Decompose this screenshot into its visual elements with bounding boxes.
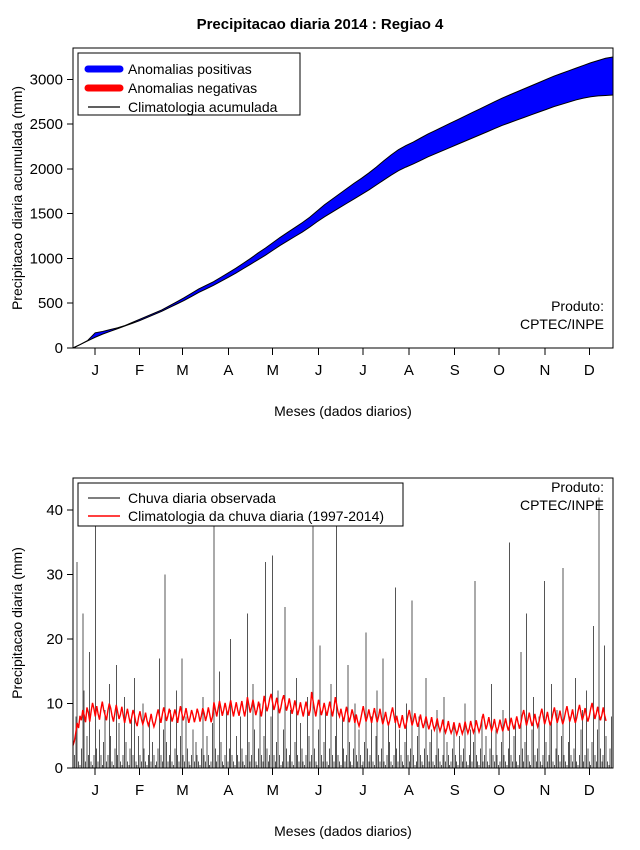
y-tick-label-6: 3000 xyxy=(30,71,63,88)
x-tick-label-9: O xyxy=(493,362,505,379)
precipitation-figure: Precipitacao diaria 2014 : Regiao 4 0500… xyxy=(0,0,640,850)
x-tick-label-6: J xyxy=(359,362,367,379)
x-axis-title: Meses (dados diarios) xyxy=(274,403,412,419)
x-tick-label-11: D xyxy=(584,362,595,379)
x-tick-label-7: A xyxy=(404,362,414,379)
x-tick-label-8: S xyxy=(450,362,460,379)
y-axis-title: Precipitacao diaria (mm) xyxy=(9,547,25,699)
x-tick-label-7: A xyxy=(404,782,414,799)
daily-chart-svg: 010203040JFMAMJJASONDPrecipitacao diaria… xyxy=(0,430,640,850)
y-tick-label-4: 40 xyxy=(46,502,63,519)
y-tick-label-4: 2000 xyxy=(30,161,63,178)
x-tick-label-10: N xyxy=(540,782,551,799)
y-tick-label-2: 1000 xyxy=(30,250,63,267)
accumulated-precipitation-chart: Precipitacao diaria 2014 : Regiao 4 0500… xyxy=(0,0,640,430)
x-tick-label-2: M xyxy=(176,362,189,379)
producer-label-line1: Produto: xyxy=(551,479,604,495)
y-tick-label-5: 2500 xyxy=(30,116,63,133)
legend-label-1: Anomalias negativas xyxy=(128,80,257,96)
y-tick-label-1: 10 xyxy=(46,696,63,713)
x-tick-label-8: S xyxy=(450,782,460,799)
x-tick-label-4: M xyxy=(266,782,279,799)
legend-label-2: Climatologia acumulada xyxy=(128,99,278,115)
x-tick-label-0: J xyxy=(91,782,99,799)
x-tick-label-0: J xyxy=(91,362,99,379)
climatology-accumulated-line xyxy=(73,95,613,348)
x-tick-label-1: F xyxy=(135,782,144,799)
producer-label-line2: CPTEC/INPE xyxy=(520,316,604,332)
legend-label-0: Anomalias positivas xyxy=(128,61,252,77)
y-tick-label-2: 20 xyxy=(46,631,63,648)
x-tick-label-5: J xyxy=(315,362,323,379)
y-tick-label-1: 500 xyxy=(38,295,63,312)
x-tick-label-6: J xyxy=(359,782,367,799)
y-tick-label-3: 30 xyxy=(46,567,63,584)
x-tick-label-3: A xyxy=(223,362,233,379)
accumulated-chart-svg: Precipitacao diaria 2014 : Regiao 4 0500… xyxy=(0,0,640,430)
x-tick-label-10: N xyxy=(540,362,551,379)
y-tick-label-3: 1500 xyxy=(30,206,63,223)
x-tick-label-2: M xyxy=(176,782,189,799)
y-tick-label-0: 0 xyxy=(55,340,63,357)
page-title: Precipitacao diaria 2014 : Regiao 4 xyxy=(197,16,444,33)
daily-precipitation-chart: 010203040JFMAMJJASONDPrecipitacao diaria… xyxy=(0,430,640,850)
x-axis-title: Meses (dados diarios) xyxy=(274,823,412,839)
x-tick-label-9: O xyxy=(493,782,505,799)
x-tick-label-5: J xyxy=(315,782,323,799)
x-tick-label-11: D xyxy=(584,782,595,799)
x-tick-label-3: A xyxy=(223,782,233,799)
x-tick-label-1: F xyxy=(135,362,144,379)
x-tick-label-4: M xyxy=(266,362,279,379)
legend-label-1: Climatologia da chuva diaria (1997-2014) xyxy=(128,508,384,524)
legend-label-0: Chuva diaria observada xyxy=(128,490,276,506)
y-tick-label-0: 0 xyxy=(55,760,63,777)
y-axis-title: Precipitacao diaria acumulada (mm) xyxy=(9,86,25,310)
producer-label-line2: CPTEC/INPE xyxy=(520,497,604,513)
producer-label-line1: Produto: xyxy=(551,298,604,314)
